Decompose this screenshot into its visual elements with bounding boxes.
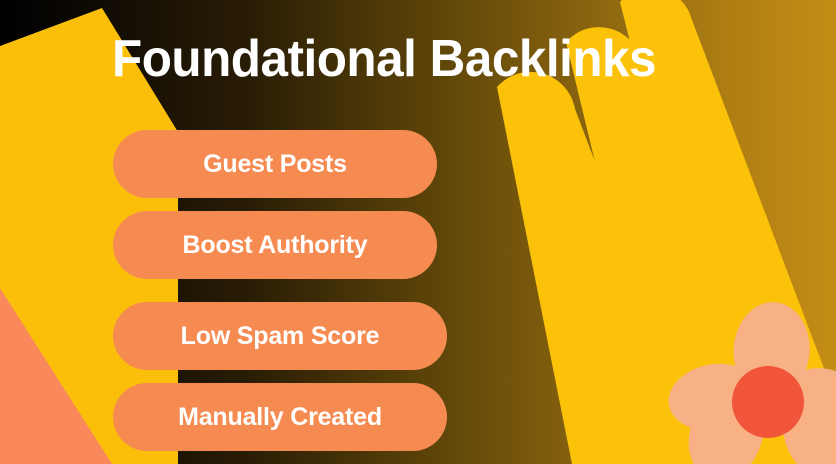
feature-pill-label: Boost Authority [183,233,368,258]
feature-pill-label: Guest Posts [203,152,347,177]
yellow-stripe-1 [497,72,710,464]
feature-pill-label: Low Spam Score [181,324,380,349]
feature-pill-boost-authority[interactable]: Boost Authority [113,211,437,279]
feature-pill-low-spam-score[interactable]: Low Spam Score [113,302,447,370]
flower [663,300,836,464]
feature-pill-manually-created[interactable]: Manually Created [113,383,447,451]
flower-petals [663,300,836,464]
yellow-stripe-2 [566,27,800,464]
banner-canvas: Foundational Backlinks Guest Posts Boost… [0,0,836,464]
flower-petal-right [772,356,836,452]
feature-pill-guest-posts[interactable]: Guest Posts [113,130,437,198]
flower-center [732,366,804,438]
bottom-left-salmon-triangle [0,288,112,464]
flower-petal-bottom-right [772,382,836,464]
page-title: Foundational Backlinks [112,32,656,87]
flower-petal-top [730,300,813,401]
feature-pill-label: Manually Created [178,405,382,430]
flower-petal-left [663,357,765,438]
flower-petal-bottom-left [676,380,775,464]
